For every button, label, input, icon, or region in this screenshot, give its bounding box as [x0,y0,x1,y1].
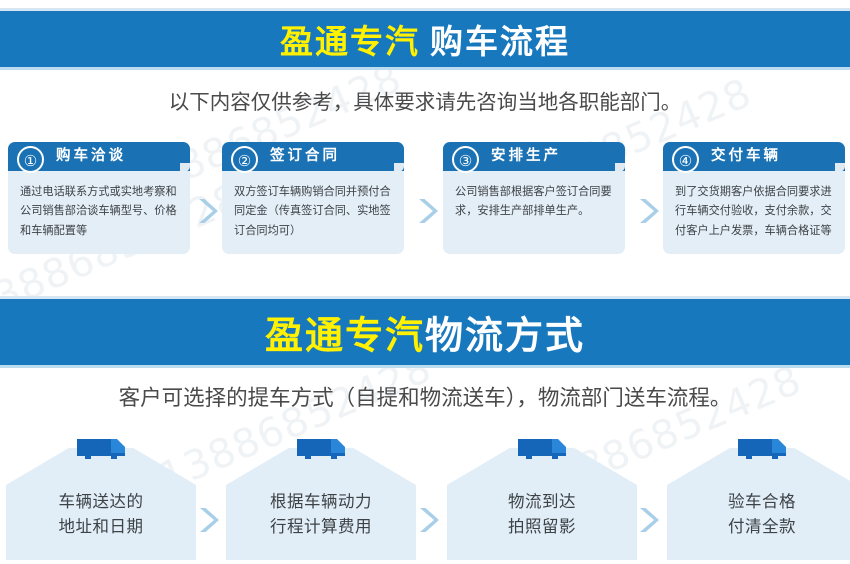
step-number-badge: ② [231,146,258,173]
logistics-card[interactable]: 根据车辆动力 行程计算费用 [226,432,416,560]
purchase-banner-title: 盈通专汽购车流程 [0,15,850,63]
step-title: 购车洽谈 [56,142,126,171]
step-body-text: 双方签订车辆购销合同并预付合同定金（传真签订合同、实地签订合同均可） [222,171,404,254]
logistics-card-label: 车辆送达的 地址和日期 [6,489,196,539]
step-card[interactable]: ④ 交付车辆 到了交货期客户依据合同要求进行车辆交付验收，支付余款，交付客户上户… [663,142,845,254]
logistics-banner-title: 盈通专汽物流方式 [0,305,850,360]
step-number-badge: ③ [452,146,479,173]
step-title: 安排生产 [491,142,561,171]
logistics-card-line1: 验车合格 [667,489,850,514]
step-card-header: ① 购车洽谈 [8,142,190,171]
logistics-card-line2: 行程计算费用 [226,514,416,539]
step-card-header: ③ 安排生产 [443,142,625,171]
logistics-card-line2: 付清全款 [667,514,850,539]
purchase-banner-brand: 盈通专汽 [280,22,420,61]
logistics-card[interactable]: 验车合格 付清全款 [667,432,850,560]
logistics-card-label: 根据车辆动力 行程计算费用 [226,489,416,539]
step-body-text: 通过电话联系方式或实地考察和公司销售部洽谈车辆型号、价格和车辆配置等 [8,171,190,254]
chevron-right-icon [637,505,659,535]
chevron-right-icon [417,505,439,535]
purchase-subheading: 以下内容仅供参考，具体要求请先咨询当地各职能部门。 [0,85,850,115]
chevron-right-icon [197,505,219,535]
logistics-subheading: 客户可选择的提车方式（自提和物流送车），物流部门送车流程。 [0,381,850,412]
logistics-banner: 盈通专汽物流方式 [0,296,850,368]
logistics-card-line2: 拍照留影 [447,514,637,539]
chevron-right-icon [416,196,438,226]
truck-icon [514,435,570,463]
logistics-cards-row: 车辆送达的 地址和日期 根据车辆动力 行程计算费用 [0,432,850,560]
purchase-banner-heading: 购车流程 [420,22,570,61]
step-card[interactable]: ③ 安排生产 公司销售部根据客户签订合同要求，安排生产部排单生产。 [443,142,625,254]
truck-icon [73,435,129,463]
logistics-banner-brand: 盈通专汽 [265,314,425,358]
chevron-right-icon [637,196,659,226]
logistics-card[interactable]: 物流到达 拍照留影 [447,432,637,560]
step-title: 签订合同 [270,142,340,171]
truck-icon [734,435,790,463]
logistics-card-line1: 车辆送达的 [6,489,196,514]
logistics-card-line1: 根据车辆动力 [226,489,416,514]
logistics-card[interactable]: 车辆送达的 地址和日期 [6,432,196,560]
step-number-badge: ④ [672,146,699,173]
step-number-badge: ① [17,146,44,173]
step-body-text: 公司销售部根据客户签订合同要求，安排生产部排单生产。 [443,171,625,254]
step-card-header: ② 签订合同 [222,142,404,171]
truck-icon [293,435,349,463]
step-card[interactable]: ① 购车洽谈 通过电话联系方式或实地考察和公司销售部洽谈车辆型号、价格和车辆配置… [8,142,190,254]
logistics-card-line1: 物流到达 [447,489,637,514]
purchase-banner: 盈通专汽购车流程 [0,8,850,70]
logistics-card-label: 验车合格 付清全款 [667,489,850,539]
step-title: 交付车辆 [711,142,781,171]
logistics-banner-heading: 物流方式 [425,314,585,358]
logistics-card-label: 物流到达 拍照留影 [447,489,637,539]
chevron-right-icon [196,196,218,226]
logistics-card-line2: 地址和日期 [6,514,196,539]
step-card-header: ④ 交付车辆 [663,142,845,171]
step-body-text: 到了交货期客户依据合同要求进行车辆交付验收，支付余款，交付客户上户发票，车辆合格… [663,171,845,254]
step-card[interactable]: ② 签订合同 双方签订车辆购销合同并预付合同定金（传真签订合同、实地签订合同均可… [222,142,404,254]
